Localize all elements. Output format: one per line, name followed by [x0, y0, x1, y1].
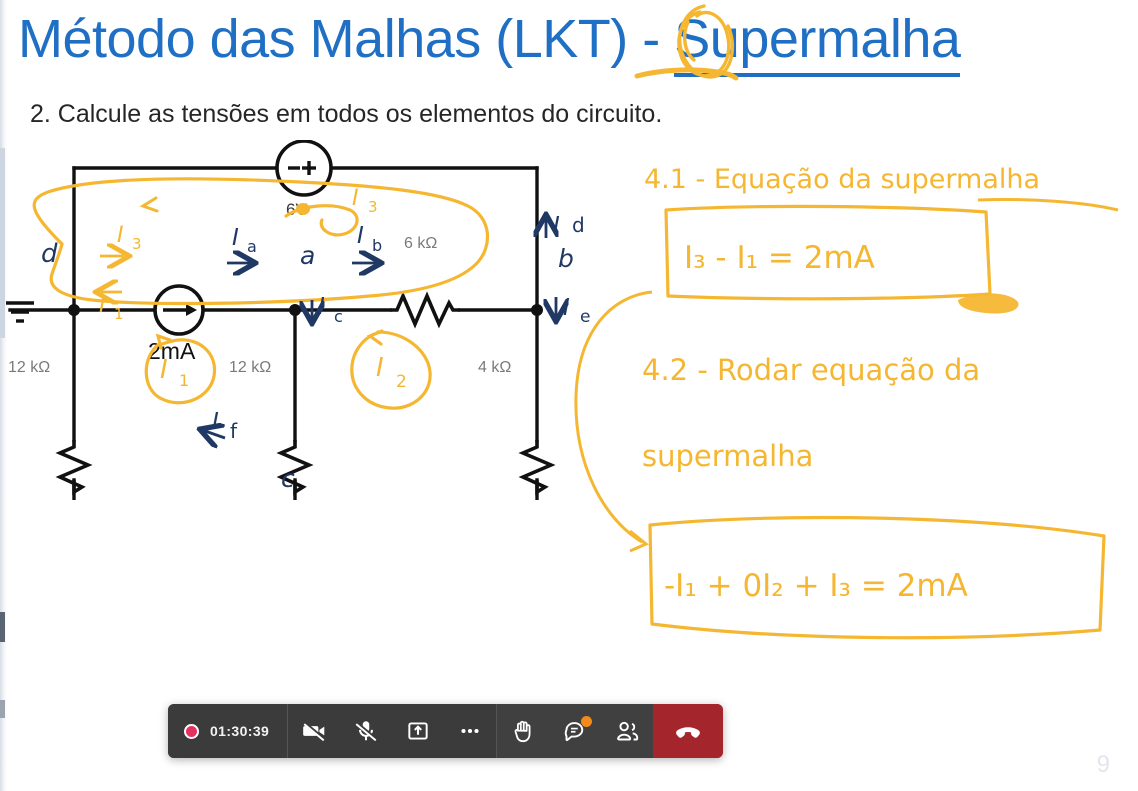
participants-button[interactable] — [601, 704, 653, 758]
resistor-12k-left-label: 12 kΩ — [8, 359, 50, 376]
chat-unread-badge — [581, 716, 592, 727]
slide-title-text: Método das Malhas (LKT) - — [18, 9, 674, 69]
toolbar-group-media — [288, 704, 496, 758]
recording-indicator: 01:30:39 — [168, 704, 287, 758]
window-left-edge-segment — [0, 700, 5, 718]
equation-1-text: I₃ - I₁ = 2mA — [684, 240, 875, 276]
highlight-blob — [958, 293, 1018, 313]
mic-off-icon — [353, 718, 379, 744]
resistor-4k-label: 4 kΩ — [478, 359, 511, 376]
equation-box-1 — [666, 206, 990, 298]
node-dot-d — [68, 304, 80, 316]
resistor-6k — [390, 296, 460, 324]
equation-box-2 — [650, 517, 1104, 637]
resistor-12k-left — [60, 440, 88, 492]
step-4-2-heading-line2: supermalha — [642, 439, 813, 473]
share-screen-icon — [405, 718, 431, 744]
voltage-source-6v — [277, 141, 331, 195]
share-screen-button[interactable] — [392, 704, 444, 758]
current-source-2ma — [155, 286, 203, 334]
more-options-button[interactable] — [444, 704, 496, 758]
page-number: 9 — [1097, 751, 1110, 779]
node-dot-b — [531, 304, 543, 316]
window-left-edge-segment — [0, 612, 5, 642]
slide-title: Método das Malhas (LKT) - Supermalha — [18, 2, 960, 76]
shared-slide-stage: Método das Malhas (LKT) - Supermalha 2. … — [0, 0, 1138, 791]
equation-2-text: -I₁ + 0I₂ + I₃ = 2mA — [664, 568, 968, 604]
camera-off-icon — [301, 718, 327, 744]
chat-button[interactable] — [549, 704, 601, 758]
slide-subtitle: 2. Calcule as tensões em todos os elemen… — [30, 100, 662, 129]
resistor-12k-mid — [281, 440, 309, 492]
record-dot-icon — [184, 724, 199, 739]
circuit-diagram: 6V 2mA 6 kΩ 12 kΩ 12 kΩ 4 kΩ — [0, 140, 620, 500]
ground-icon — [6, 303, 34, 321]
slide-title-underlined: Supermalha — [674, 9, 960, 77]
hangup-icon — [673, 716, 703, 746]
toolbar-group-recording: 01:30:39 — [168, 704, 287, 758]
resistor-12k-mid-label: 12 kΩ — [229, 359, 271, 376]
mic-off-button[interactable] — [340, 704, 392, 758]
raise-hand-button[interactable] — [497, 704, 549, 758]
participants-icon — [614, 718, 641, 745]
meeting-toolbar[interactable]: 01:30:39 — [168, 704, 723, 758]
resistor-4k — [523, 440, 551, 492]
node-dot-a — [289, 304, 301, 316]
step-4-1-heading: 4.1 - Equação da supermalha — [644, 164, 1040, 195]
hangup-button[interactable] — [653, 704, 723, 758]
resistor-6k-label: 6 kΩ — [404, 235, 437, 252]
recording-timer: 01:30:39 — [210, 723, 269, 739]
step-4-1-underline — [978, 199, 1118, 210]
raise-hand-icon — [510, 718, 537, 745]
current-source-label: 2mA — [148, 338, 196, 364]
toolbar-group-interaction — [497, 704, 653, 758]
voltage-source-label: 6V — [286, 200, 307, 219]
step-4-2-heading-line1: 4.2 - Rodar equação da — [642, 353, 980, 387]
more-options-icon — [457, 718, 483, 744]
camera-off-button[interactable] — [288, 704, 340, 758]
